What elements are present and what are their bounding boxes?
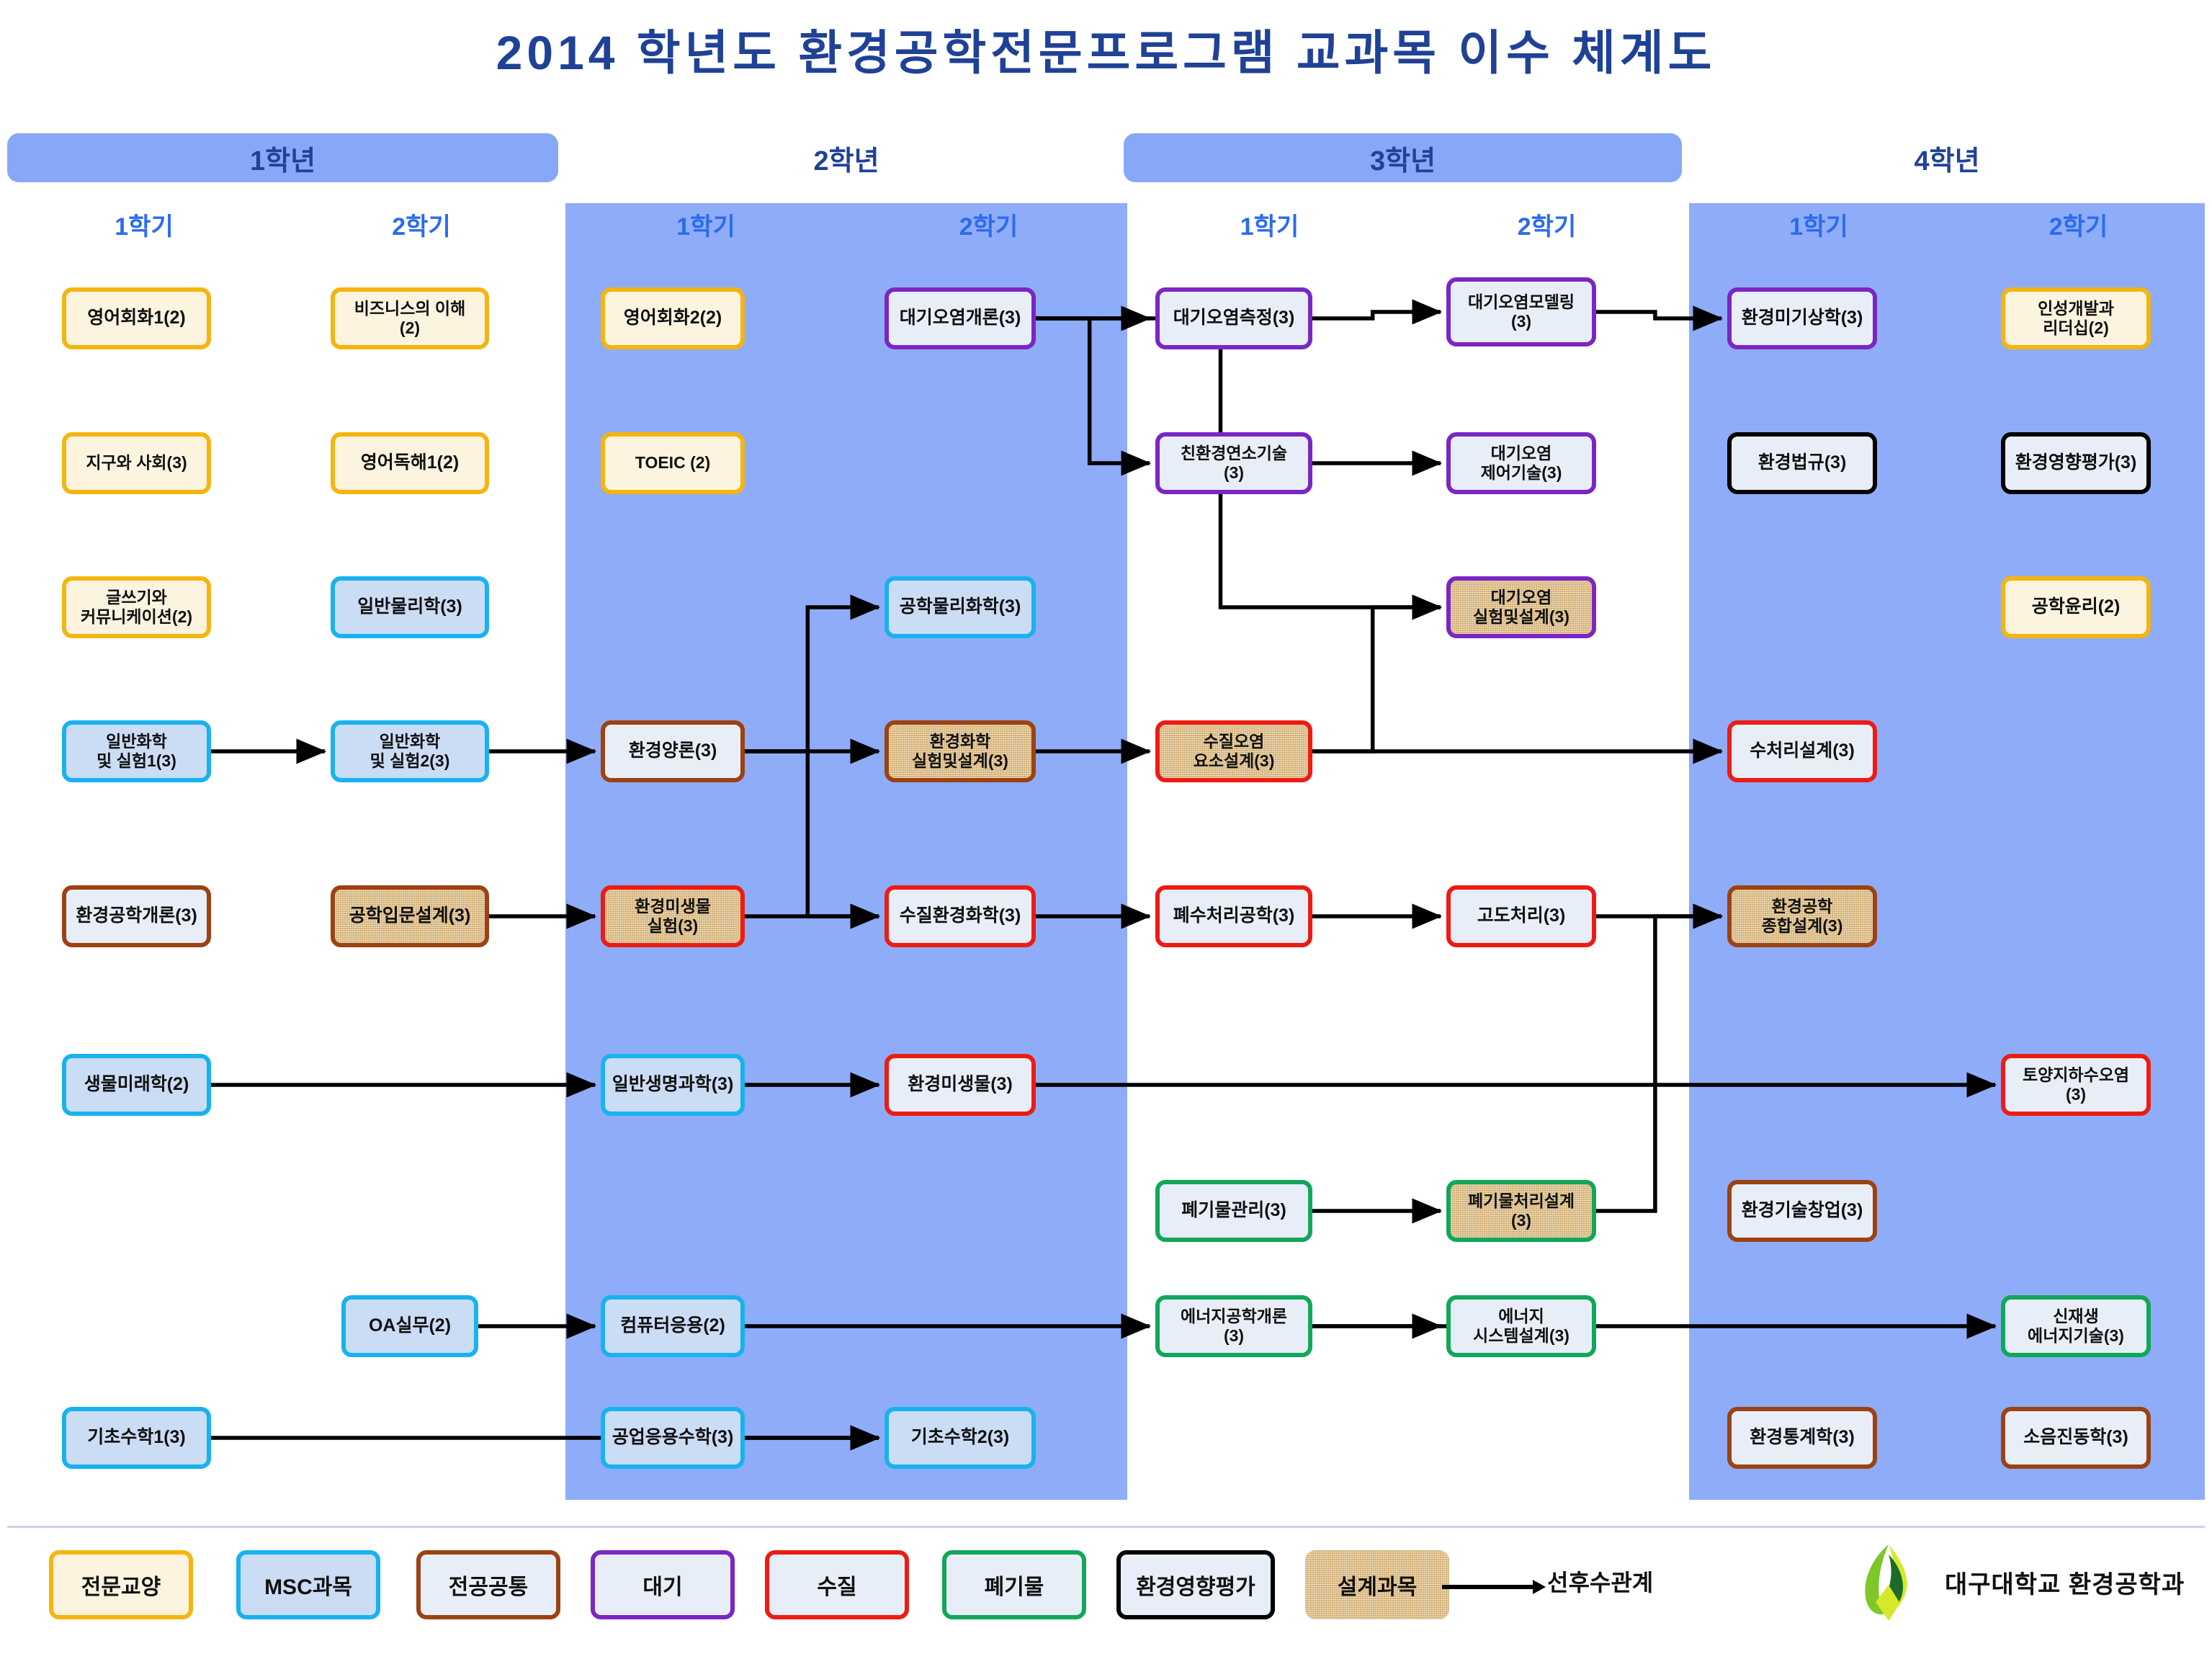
- legend-item-2: MSC과목: [236, 1550, 380, 1619]
- year-header-1: 1학년: [7, 133, 558, 182]
- course-box[interactable]: 대기오염 실험및설계(3): [1446, 576, 1596, 638]
- course-box[interactable]: 기초수학2(3): [885, 1407, 1036, 1469]
- course-box[interactable]: 소음진동학(3): [2001, 1407, 2151, 1469]
- course-box[interactable]: 대기오염 제어기술(3): [1446, 432, 1596, 494]
- course-box[interactable]: 환경미생물(3): [885, 1054, 1036, 1116]
- semester-header-7: 1학기: [1689, 205, 1948, 243]
- course-box[interactable]: 환경미생물 실험(3): [601, 885, 745, 947]
- course-box[interactable]: 공학윤리(2): [2001, 576, 2151, 638]
- course-box[interactable]: 환경공학개론(3): [62, 885, 211, 947]
- course-box[interactable]: 대기오염측정(3): [1155, 287, 1312, 349]
- course-box[interactable]: 고도처리(3): [1446, 885, 1596, 947]
- course-box[interactable]: 영어독해1(2): [331, 432, 489, 494]
- legend-item-4: 대기: [591, 1550, 735, 1619]
- course-box[interactable]: 수질오염 요소설계(3): [1155, 720, 1312, 782]
- legend-item-8: 설계과목: [1305, 1550, 1449, 1619]
- legend-item-3: 전공공통: [416, 1550, 560, 1619]
- course-box[interactable]: 영어회화2(2): [601, 287, 745, 349]
- semester-header-6: 2학기: [1412, 205, 1682, 243]
- semester-header-1: 1학기: [7, 205, 281, 243]
- legend-item-1: 전문교양: [49, 1550, 193, 1619]
- course-box[interactable]: 공업응용수학(3): [601, 1407, 745, 1469]
- course-box[interactable]: 글쓰기와 커뮤니케이션(2): [62, 576, 211, 638]
- university-logo-icon: [1844, 1542, 1930, 1628]
- department-name: 대구대학교 환경공학과: [1945, 1565, 2185, 1600]
- course-box[interactable]: 영어회화1(2): [62, 287, 211, 349]
- year-header-4: 4학년: [1689, 133, 2205, 182]
- semester-header-8: 2학기: [1952, 205, 2205, 243]
- course-box[interactable]: 환경기술창업(3): [1727, 1180, 1877, 1242]
- course-box[interactable]: 폐기물처리설계 (3): [1446, 1180, 1596, 1242]
- legend-item-5: 수질: [765, 1550, 909, 1619]
- course-box[interactable]: 인성개발과 리더십(2): [2001, 287, 2151, 349]
- course-box[interactable]: 일반화학 및 실험1(3): [62, 720, 211, 782]
- course-box[interactable]: 환경화학 실험및설계(3): [885, 720, 1036, 782]
- legend-arrow-icon: [1441, 1576, 1549, 1598]
- course-box[interactable]: 공학입문설계(3): [331, 885, 489, 947]
- course-box[interactable]: 환경공학 종합설계(3): [1727, 885, 1877, 947]
- course-box[interactable]: 지구와 사회(3): [62, 432, 211, 494]
- course-box[interactable]: 토양지하수오염 (3): [2001, 1054, 2151, 1116]
- course-box[interactable]: 일반물리학(3): [331, 576, 489, 638]
- course-box[interactable]: 환경영향평가(3): [2001, 432, 2151, 494]
- course-box[interactable]: 폐기물관리(3): [1155, 1180, 1312, 1242]
- course-box[interactable]: 수처리설계(3): [1727, 720, 1877, 782]
- course-box[interactable]: 일반화학 및 실험2(3): [331, 720, 489, 782]
- course-box[interactable]: 기초수학1(3): [62, 1407, 211, 1469]
- course-box[interactable]: 환경양론(3): [601, 720, 745, 782]
- course-box[interactable]: 에너지공학개론 (3): [1155, 1295, 1312, 1357]
- legend-item-6: 폐기물: [942, 1550, 1086, 1619]
- course-box[interactable]: 환경미기상학(3): [1727, 287, 1877, 349]
- course-box[interactable]: 일반생명과학(3): [601, 1054, 745, 1116]
- semester-header-5: 1학기: [1131, 205, 1408, 243]
- course-box[interactable]: 공학물리화학(3): [885, 576, 1036, 638]
- course-box[interactable]: 신재생 에너지기술(3): [2001, 1295, 2151, 1357]
- course-box[interactable]: 친환경연소기술 (3): [1155, 432, 1312, 494]
- semester-header-4: 2학기: [850, 205, 1127, 243]
- course-box[interactable]: 생물미래학(2): [62, 1054, 211, 1116]
- year-header-3: 3학년: [1124, 133, 1682, 182]
- course-box[interactable]: 컴퓨터응용(2): [601, 1295, 745, 1357]
- course-box[interactable]: OA실무(2): [341, 1295, 478, 1357]
- course-box[interactable]: 에너지 시스템설계(3): [1446, 1295, 1596, 1357]
- legend-divider: [7, 1526, 2205, 1528]
- course-box[interactable]: 환경통계학(3): [1727, 1407, 1877, 1469]
- year-header-2: 2학년: [565, 133, 1127, 182]
- course-box[interactable]: 폐수처리공학(3): [1155, 885, 1312, 947]
- course-box[interactable]: 수질환경화학(3): [885, 885, 1036, 947]
- course-box[interactable]: 대기오염개론(3): [885, 287, 1036, 349]
- semester-header-3: 1학기: [565, 205, 846, 243]
- semester-header-2: 2학기: [285, 205, 558, 243]
- course-box[interactable]: 환경법규(3): [1727, 432, 1877, 494]
- course-box[interactable]: 대기오염모델링 (3): [1446, 277, 1596, 346]
- page-title: 2014 학년도 환경공학전문프로그램 교과목 이수 체계도: [0, 14, 2212, 84]
- course-box[interactable]: TOEIC (2): [601, 432, 745, 494]
- legend-item-7: 환경영향평가: [1116, 1550, 1275, 1619]
- legend-arrow-label: 선후수관계: [1547, 1565, 1653, 1598]
- course-box[interactable]: 비즈니스의 이해 (2): [331, 287, 489, 349]
